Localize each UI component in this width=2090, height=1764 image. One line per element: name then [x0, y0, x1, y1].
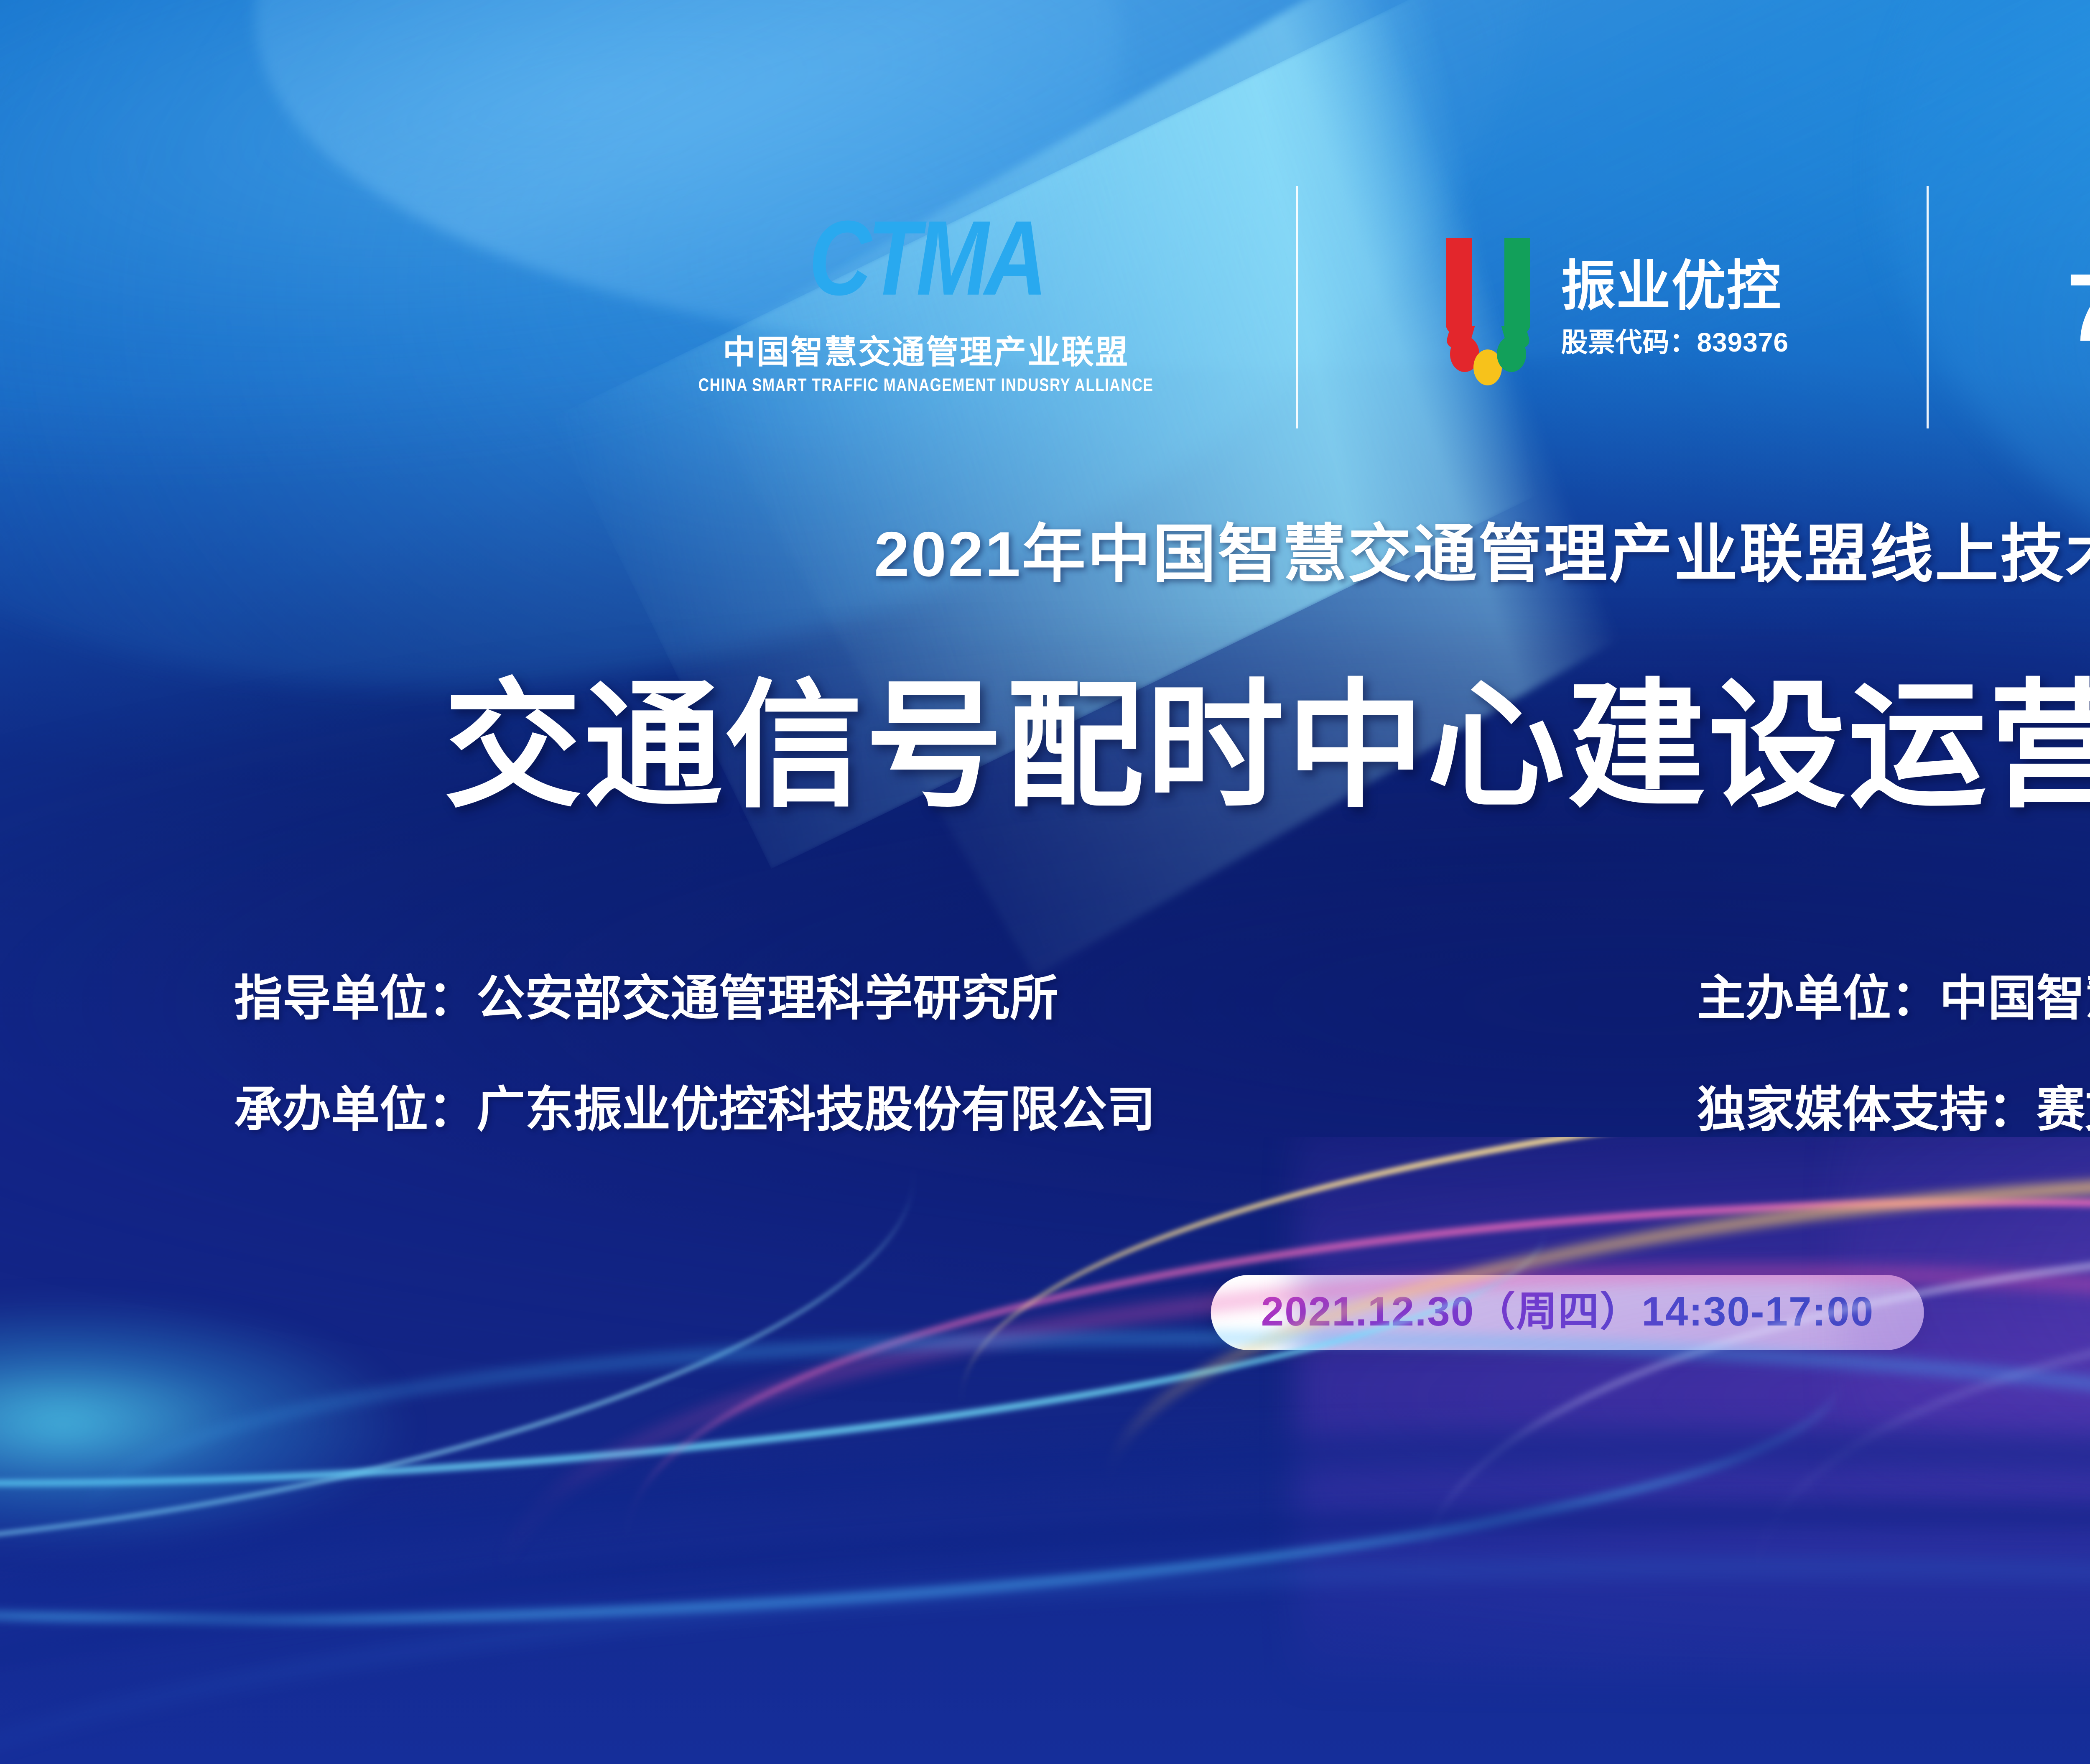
- logo-7its[interactable]: 7its.com 赛文交通网: [2067, 264, 2090, 351]
- event-headline: 交通信号配时中心建设运营经验分享: [0, 669, 2090, 823]
- zhenye-stock-code: 股票代码：839376: [1561, 329, 1789, 356]
- organizer-info: 指导单位：公安部交通管理科学研究所 主办单位：中国智慧交通管理产业联盟 承办单位…: [234, 974, 2090, 1134]
- event-subtitle: 2021年中国智慧交通管理产业联盟线上技术沙龙: [0, 523, 2090, 586]
- organizer-unit: 承办单位：广东振业优控科技股份有限公司: [234, 1085, 1697, 1134]
- ctma-name-cn: 中国智慧交通管理产业联盟: [698, 336, 1154, 368]
- organizer-row: 指导单位：公安部交通管理科学研究所 主办单位：中国智慧交通管理产业联盟: [234, 974, 2090, 1022]
- event-poster: CTMA 中国智慧交通管理产业联盟 CHINA SMART TRAFFIC MA…: [0, 0, 2090, 1764]
- ctma-wordmark: CTMA: [698, 205, 1154, 311]
- bottom-tint-overlay: [0, 1388, 2090, 1764]
- sevenits-wordmark: 7its.com: [2067, 264, 2090, 351]
- zhenye-dot-green: [1497, 336, 1526, 372]
- background-ribbons: [0, 1137, 2090, 1764]
- zhenye-u-mark-icon: [1440, 238, 1536, 376]
- logo-divider-2: [1927, 186, 1929, 428]
- ctma-name-en: CHINA SMART TRAFFIC MANAGEMENT INDUSRY A…: [698, 376, 1154, 394]
- logo-divider-1: [1296, 186, 1298, 428]
- organizer-row: 承办单位：广东振业优控科技股份有限公司 独家媒体支持：赛文交通网: [234, 1085, 2090, 1134]
- media-partner: 独家媒体支持：赛文交通网: [1697, 1085, 2090, 1134]
- zhenye-stem-red: [1446, 238, 1472, 335]
- logo-zhenye-youkong[interactable]: 振业优控 股票代码：839376: [1440, 238, 1789, 376]
- zhenye-stem-green: [1504, 238, 1530, 335]
- logo-ctma[interactable]: CTMA 中国智慧交通管理产业联盟 CHINA SMART TRAFFIC MA…: [698, 224, 1154, 390]
- sponsor-logo-bar: CTMA 中国智慧交通管理产业联盟 CHINA SMART TRAFFIC MA…: [0, 180, 2090, 435]
- guidance-unit: 指导单位：公安部交通管理科学研究所: [234, 974, 1697, 1022]
- host-unit: 主办单位：中国智慧交通管理产业联盟: [1697, 974, 2090, 1022]
- zhenye-name: 振业优控: [1561, 259, 1789, 313]
